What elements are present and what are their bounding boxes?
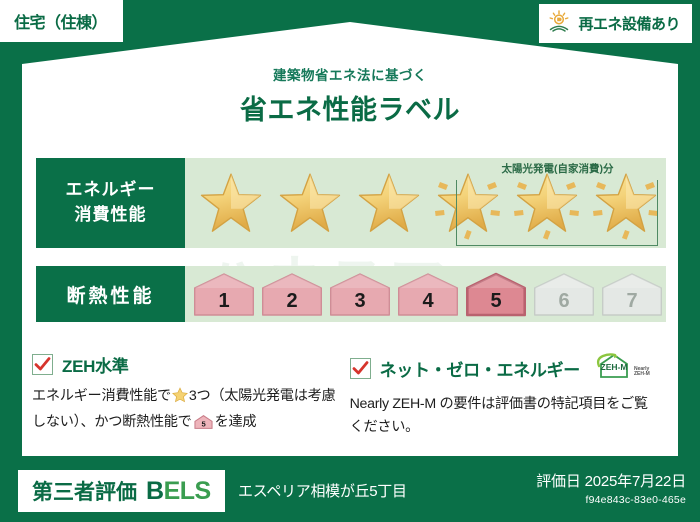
zeh-m-house-logo: ZEH-M Nearly ZEH-M	[594, 352, 656, 385]
renewable-equipment-badge: 再エネ設備あり	[539, 4, 692, 43]
energy-performance-row: エネルギー 消費性能 太陽光発電(自家消費)分	[36, 158, 666, 248]
building-name: エスペリア相模が丘5丁目	[238, 480, 407, 501]
insulation-level-number: 3	[329, 290, 391, 313]
claim-zeh-standard: ZEH水準 エネルギー消費性能で3つ（太陽光発電は考慮しない）、かつ断熱性能で5…	[32, 352, 350, 439]
insulation-level-number: 4	[397, 290, 459, 313]
solar-sun-icon	[547, 10, 571, 37]
energy-performance-label: ハウスマ 住宅（住棟） 再エネ設備あり	[0, 0, 700, 522]
insulation-level-7: 7	[601, 271, 663, 317]
checkmark-icon	[32, 354, 53, 375]
insulation-performance-row: 断熱性能 1234567	[36, 266, 666, 322]
building-type-tag-label: 住宅（住棟）	[14, 15, 107, 32]
insulation-label: 断熱性能	[66, 281, 154, 308]
insulation-level-number: 6	[533, 290, 595, 313]
energy-label-line2: 消費性能	[75, 203, 147, 228]
insulation-level-1: 1	[193, 271, 255, 317]
insulation-level-2: 2	[261, 271, 323, 317]
energy-star-track: 太陽光発電(自家消費)分	[185, 158, 666, 248]
insulation-level-number: 7	[601, 290, 663, 313]
house-level-5-icon: 5	[194, 418, 213, 434]
insulation-level-number: 5	[465, 290, 527, 313]
bels-logo-els: ELS	[164, 477, 211, 505]
insulation-level-6: 6	[533, 271, 595, 317]
claim-nze-body: Nearly ZEH-M の要件は評価書の特記項目をご覧ください。	[350, 393, 656, 439]
footer: 第三者評価 BELS エスペリア相模が丘5丁目 評価日 2025年7月22日 f…	[0, 458, 700, 522]
insulation-level-track: 1234567	[185, 266, 666, 322]
claim-zeh-header: ZEH水準	[32, 352, 338, 377]
insulation-level-5: 5	[465, 271, 527, 317]
energy-label-line1: エネルギー	[66, 178, 156, 203]
bels-logo: BELS	[146, 477, 211, 506]
bels-logo-b: B	[146, 477, 164, 505]
evaluation-id: f94e843c-83e0-465e	[536, 494, 686, 506]
svg-text:ZEH-M: ZEH-M	[634, 371, 650, 377]
claim-zeh-body: エネルギー消費性能で3つ（太陽光発電は考慮しない）、かつ断熱性能で5を達成	[32, 385, 338, 438]
insulation-level-number: 1	[193, 290, 255, 313]
insulation-level-number: 2	[261, 290, 323, 313]
insulation-level-4: 4	[397, 271, 459, 317]
claim-nze-title: ネット・ゼロ・エネルギー	[380, 356, 580, 381]
claim-zeh-body-part3: を達成	[215, 414, 257, 430]
insulation-performance-label-box: 断熱性能	[36, 266, 185, 322]
svg-text:ZEH-M: ZEH-M	[601, 362, 628, 372]
footer-eval-info: 評価日 2025年7月22日 f94e843c-83e0-465e	[536, 470, 686, 506]
title-main: 省エネ性能ラベル	[0, 88, 700, 127]
star-2	[270, 158, 349, 248]
claims-section: ZEH水準 エネルギー消費性能で3つ（太陽光発電は考慮しない）、かつ断熱性能で5…	[32, 352, 668, 439]
claim-net-zero-energy: ネット・ゼロ・エネルギー ZEH-M Nearly ZEH-M Nearly Z…	[350, 352, 668, 439]
claim-zeh-body-part1: エネルギー消費性能で	[32, 388, 171, 404]
title-subtitle: 建築物省エネ法に基づく	[0, 64, 700, 84]
claim-zeh-title: ZEH水準	[62, 352, 129, 377]
evaluation-date: 評価日 2025年7月22日	[536, 470, 686, 491]
insulation-level-3: 3	[329, 271, 391, 317]
star-icon	[172, 391, 188, 407]
bels-certification-mark: 第三者評価 BELS	[18, 470, 225, 512]
renewable-badge-label: 再エネ設備あり	[578, 13, 680, 34]
building-type-tag: 住宅（住棟）	[0, 0, 123, 42]
insulation-level-scale: 1234567	[185, 266, 666, 322]
title-block: 建築物省エネ法に基づく 省エネ性能ラベル	[0, 64, 700, 127]
solar-bracket-label: 太陽光発電(自家消費)分	[450, 161, 665, 176]
third-party-eval-label: 第三者評価	[32, 476, 137, 506]
star-3	[349, 158, 428, 248]
star-1	[191, 158, 270, 248]
claim-nze-header: ネット・ゼロ・エネルギー ZEH-M Nearly ZEH-M	[350, 352, 656, 385]
energy-performance-label-box: エネルギー 消費性能	[36, 158, 185, 248]
checkmark-icon	[350, 358, 371, 379]
